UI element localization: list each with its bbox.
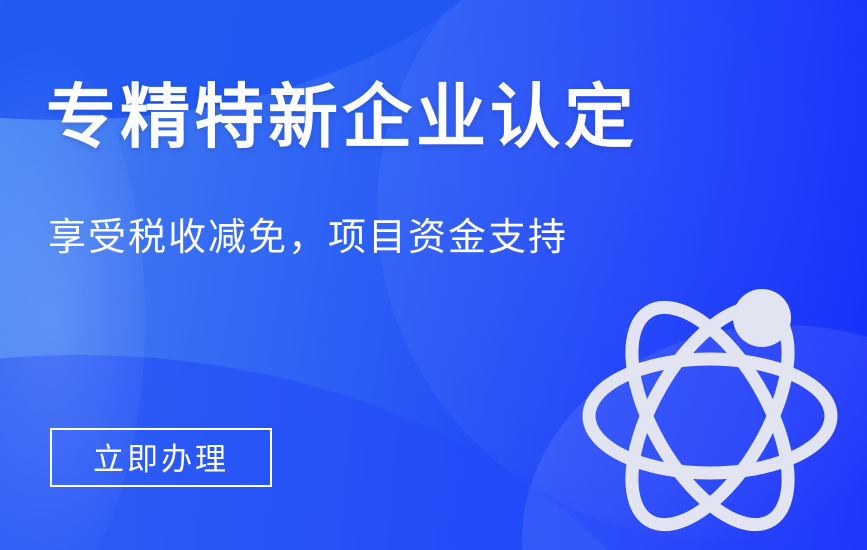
- banner-subtitle: 享受税收减免，项目资金支持: [48, 218, 568, 260]
- apply-now-button[interactable]: 立即办理: [50, 428, 272, 487]
- promo-banner: 专精特新企业认定 享受税收减免，项目资金支持 立即办理: [0, 0, 867, 550]
- banner-content: 专精特新企业认定 享受税收减免，项目资金支持 立即办理: [46, 0, 746, 550]
- page-title: 专精特新企业认定: [46, 82, 638, 152]
